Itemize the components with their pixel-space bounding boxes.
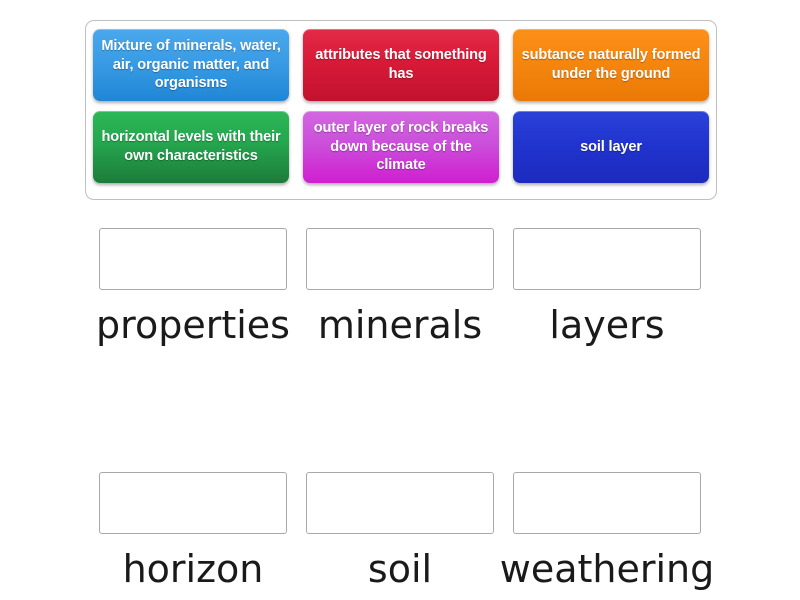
answer-row: horizon soil weathering xyxy=(99,472,701,590)
answer-grid: properties minerals layers horizon soil … xyxy=(99,228,701,590)
draggable-tile-properties-definition[interactable]: attributes that something has xyxy=(303,29,499,101)
tile-row: Mixture of minerals, water, air, organic… xyxy=(93,29,709,101)
draggable-tile-horizon-definition[interactable]: soil layer xyxy=(513,111,709,183)
drop-zone-minerals[interactable] xyxy=(306,228,494,290)
tile-tray: Mixture of minerals, water, air, organic… xyxy=(85,20,717,200)
drop-zone-layers[interactable] xyxy=(513,228,701,290)
tile-row: horizontal levels with their own charact… xyxy=(93,111,709,183)
drop-zone-weathering[interactable] xyxy=(513,472,701,534)
answer-cell-minerals: minerals xyxy=(306,228,494,346)
answer-cell-weathering: weathering xyxy=(513,472,701,590)
tile-label: subtance naturally formed under the grou… xyxy=(519,46,703,83)
tile-label: horizontal levels with their own charact… xyxy=(99,128,283,165)
answer-label-minerals: minerals xyxy=(318,306,482,346)
tile-label: soil layer xyxy=(580,138,642,157)
answer-cell-properties: properties xyxy=(99,228,287,346)
answer-label-horizon: horizon xyxy=(123,550,264,590)
answer-cell-horizon: horizon xyxy=(99,472,287,590)
answer-cell-layers: layers xyxy=(513,228,701,346)
answer-cell-soil: soil xyxy=(306,472,494,590)
answer-label-layers: layers xyxy=(549,306,664,346)
tile-label: outer layer of rock breaks down because … xyxy=(309,119,493,175)
draggable-tile-soil-definition[interactable]: Mixture of minerals, water, air, organic… xyxy=(93,29,289,101)
answer-label-weathering: weathering xyxy=(500,550,715,590)
tile-label: Mixture of minerals, water, air, organic… xyxy=(99,37,283,93)
answer-row: properties minerals layers xyxy=(99,228,701,346)
draggable-tile-layers-definition[interactable]: horizontal levels with their own charact… xyxy=(93,111,289,183)
drop-zone-properties[interactable] xyxy=(99,228,287,290)
tile-label: attributes that something has xyxy=(309,46,493,83)
drop-zone-soil[interactable] xyxy=(306,472,494,534)
answer-label-properties: properties xyxy=(96,306,290,346)
draggable-tile-minerals-definition[interactable]: subtance naturally formed under the grou… xyxy=(513,29,709,101)
draggable-tile-weathering-definition[interactable]: outer layer of rock breaks down because … xyxy=(303,111,499,183)
drop-zone-horizon[interactable] xyxy=(99,472,287,534)
answer-label-soil: soil xyxy=(368,550,432,590)
